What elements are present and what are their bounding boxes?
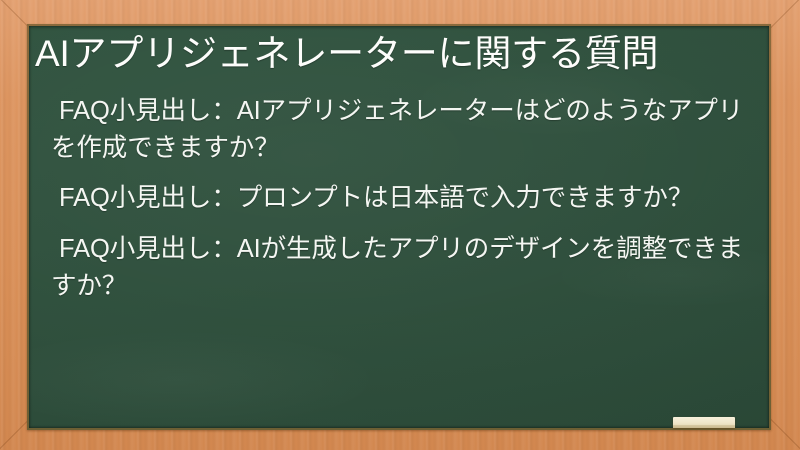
list-item: FAQ小見出し：プロンプトは日本語で入力できますか？	[49, 180, 745, 217]
chalkboard: AIアプリジェネレーターに関する質問 FAQ小見出し：AIアプリジェネレーターは…	[29, 26, 769, 428]
chalkboard-content: AIアプリジェネレーターに関する質問 FAQ小見出し：AIアプリジェネレーターは…	[29, 26, 769, 304]
list-item: FAQ小見出し：AIアプリジェネレーターはどのようなアプリを作成できますか？	[49, 93, 745, 166]
list-item: FAQ小見出し：AIが生成したアプリのデザインを調整できますか？	[49, 231, 745, 304]
chalk-eraser-felt	[673, 425, 735, 428]
wooden-frame: AIアプリジェネレーターに関する質問 FAQ小見出し：AIアプリジェネレーターは…	[0, 0, 800, 450]
page-title: AIアプリジェネレーターに関する質問	[33, 30, 755, 79]
faq-list: FAQ小見出し：AIアプリジェネレーターはどのようなアプリを作成できますか？ F…	[33, 93, 755, 305]
chalk-eraser-icon	[673, 417, 735, 428]
